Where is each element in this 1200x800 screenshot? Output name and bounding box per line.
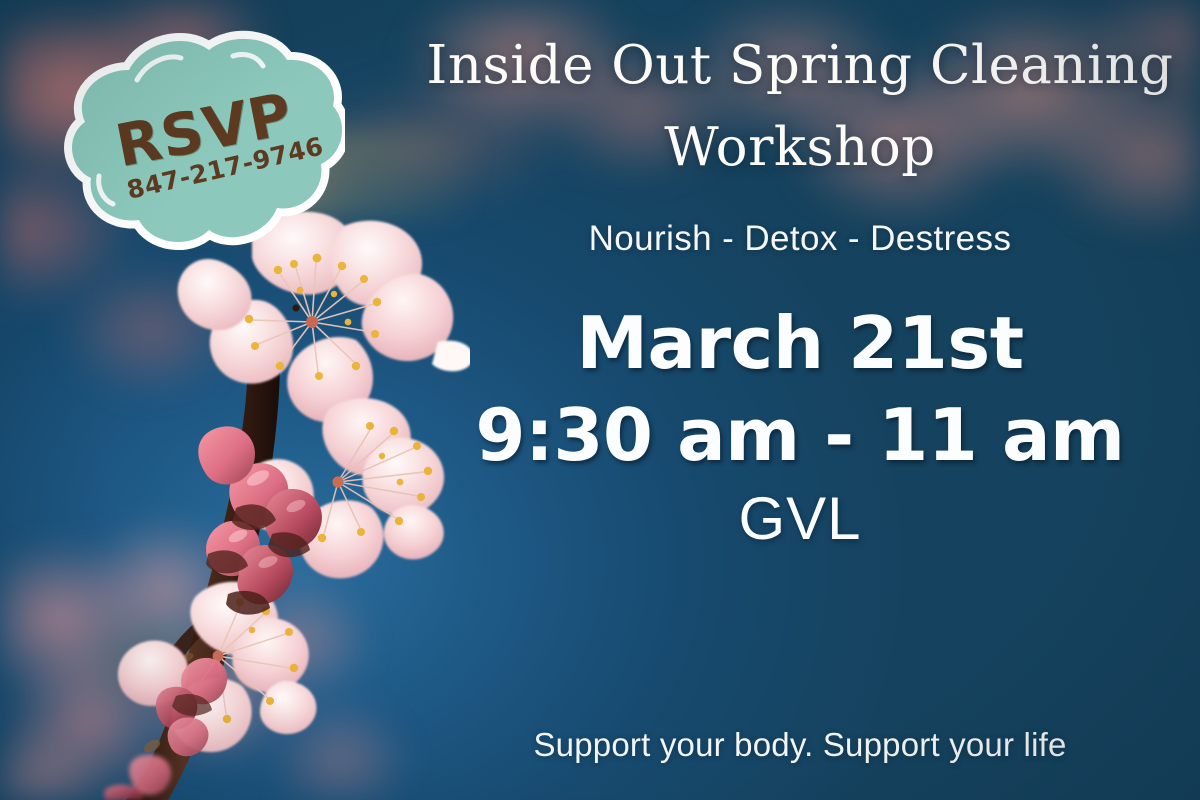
- footer-tagline: Support your body. Support your life: [400, 726, 1200, 764]
- headline-line-1: Inside Out Spring Cleaning: [426, 38, 1173, 94]
- event-flyer: RSVP 847-217-9746 Inside Out Spring Clea…: [0, 0, 1200, 800]
- workshop-subtitle: Nourish - Detox - Destress: [589, 219, 1012, 259]
- flyer-text-column: Inside Out Spring Cleaning Workshop Nour…: [400, 0, 1200, 800]
- rsvp-badge[interactable]: RSVP 847-217-9746: [55, 28, 345, 263]
- event-date: March 21st: [576, 307, 1023, 380]
- event-time: 9:30 am - 11 am: [475, 399, 1124, 472]
- event-location: GVL: [738, 484, 861, 553]
- headline-line-2: Workshop: [664, 120, 935, 176]
